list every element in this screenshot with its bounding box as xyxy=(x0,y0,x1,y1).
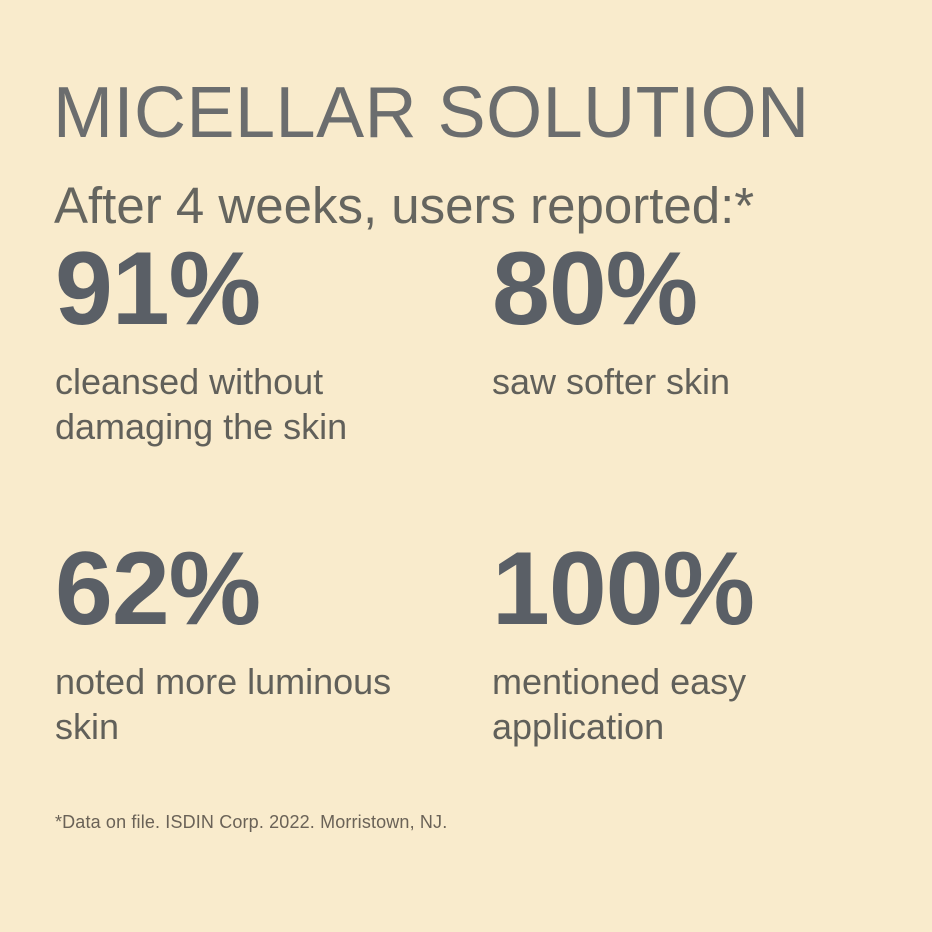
stat-label: saw softer skin xyxy=(492,340,862,404)
stat-item-softer-skin: 80% saw softer skin xyxy=(492,240,912,404)
stat-label: mentioned easy application xyxy=(492,640,862,750)
stat-item-easy-application: 100% mentioned easy application xyxy=(492,540,912,750)
footnote: *Data on file. ISDIN Corp. 2022. Morrist… xyxy=(55,812,447,833)
stats-row: 91% cleansed without damaging the skin 8… xyxy=(0,240,932,540)
page-title: MICELLAR SOLUTION xyxy=(53,76,810,152)
stat-item-cleansed: 91% cleansed without damaging the skin xyxy=(55,240,475,450)
stats-grid: 91% cleansed without damaging the skin 8… xyxy=(0,240,932,760)
micellar-solution-stats-poster: MICELLAR SOLUTION After 4 weeks, users r… xyxy=(0,0,932,932)
stat-item-luminous-skin: 62% noted more luminous skin xyxy=(55,540,475,750)
stat-label: noted more luminous skin xyxy=(55,640,425,750)
stats-row: 62% noted more luminous skin 100% mentio… xyxy=(0,540,932,760)
stat-value: 62% xyxy=(55,540,475,640)
stat-label: cleansed without damaging the skin xyxy=(55,340,425,450)
page-subtitle: After 4 weeks, users reported:* xyxy=(54,178,754,234)
stat-value: 80% xyxy=(492,240,912,340)
stat-value: 100% xyxy=(492,540,912,640)
stat-value: 91% xyxy=(55,240,475,340)
